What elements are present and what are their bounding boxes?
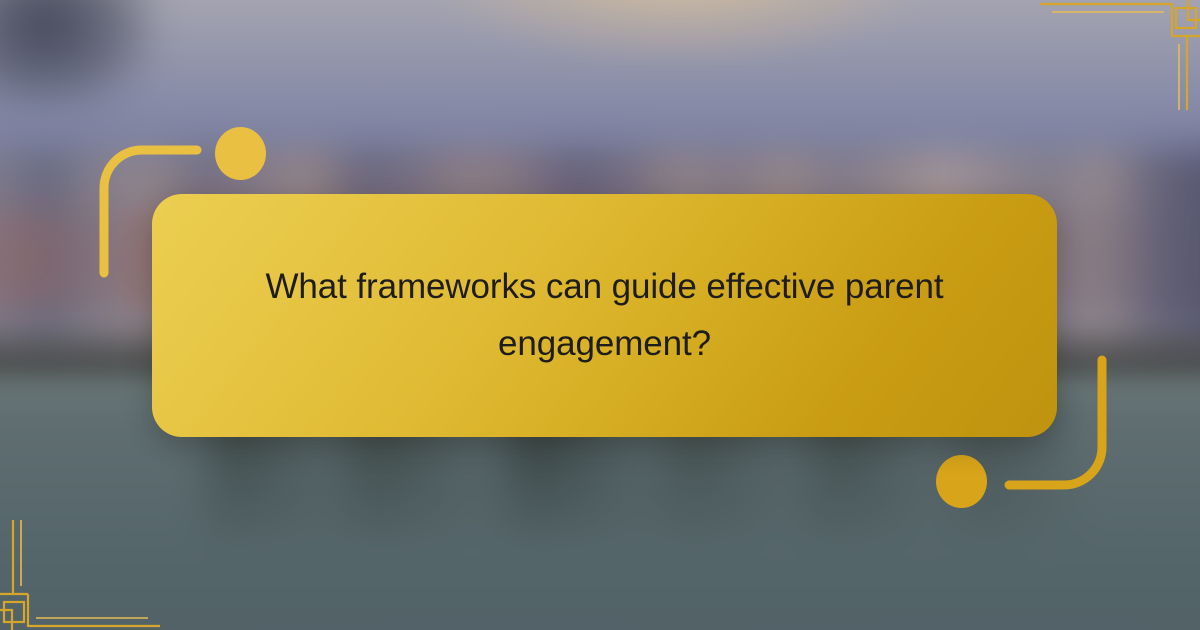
accent-dot-bottom-right (936, 455, 987, 508)
question-card: What frameworks can guide effective pare… (152, 194, 1057, 437)
quote-card-canvas: What frameworks can guide effective pare… (0, 0, 1200, 630)
question-text: What frameworks can guide effective pare… (225, 259, 985, 372)
accent-dot-top-left (215, 127, 266, 180)
